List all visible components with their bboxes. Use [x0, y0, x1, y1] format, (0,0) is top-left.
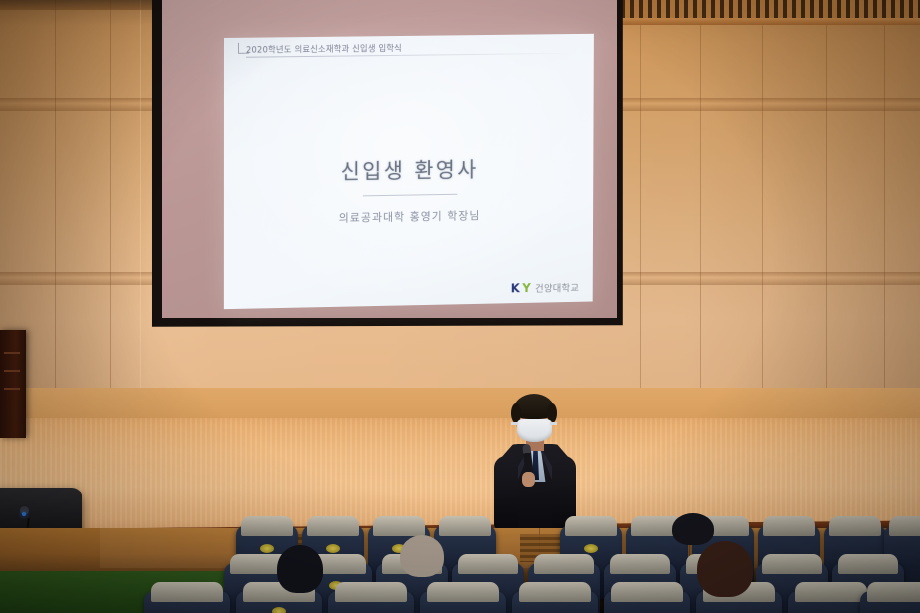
logo-university-name: 건양대학교 [535, 280, 579, 295]
seat-headrest [610, 554, 670, 574]
mask-strap [550, 422, 557, 425]
seat-headrest [762, 554, 822, 574]
mask-strap [511, 422, 518, 425]
attendee-cap-center [672, 513, 714, 545]
seat-headrest [838, 554, 898, 574]
seat-emblem-icon [260, 544, 274, 553]
auditorium-seat [604, 591, 690, 613]
seat-emblem-icon [272, 607, 286, 613]
seat-headrest [519, 582, 591, 602]
auditorium-seat [512, 591, 598, 613]
attendee-brown-hair-right [697, 541, 753, 597]
attendee-dark-hair-left [277, 545, 323, 593]
seat-headrest [611, 582, 683, 602]
presentation-slide: 2020학년도 의료신소재학과 신입생 입학식 신입생 환영사 의료공과대학 홍… [224, 34, 594, 309]
seat-headrest [427, 582, 499, 602]
presenter-hand [522, 472, 535, 487]
seat-headrest [795, 582, 867, 602]
rack-equipment [0, 330, 26, 438]
seat-headrest [241, 516, 293, 536]
acoustic-slats-trim [600, 18, 920, 25]
seat-emblem-icon [584, 544, 598, 553]
logo-letter-k-icon: K [511, 282, 520, 294]
seat-headrest [565, 516, 617, 536]
auditorium-seat [144, 591, 230, 613]
seat-headrest [458, 554, 518, 574]
seat-headrest [534, 554, 594, 574]
university-logo: K Y 건양대학교 [511, 280, 579, 295]
wall-seam [640, 0, 641, 430]
auditorium-seat [328, 591, 414, 613]
seat-headrest [867, 582, 920, 602]
seat-headrest [763, 516, 815, 536]
slide-title: 신입생 환영사 [224, 152, 593, 188]
seat-headrest [151, 582, 223, 602]
audience-seating [0, 505, 920, 613]
attendee-grey-hair [400, 535, 444, 577]
seat-headrest [335, 582, 407, 602]
auditorium-seat [860, 591, 920, 613]
auditorium-seat [236, 591, 322, 613]
seat-headrest [889, 516, 920, 536]
seat-headrest [373, 516, 425, 536]
seat-headrest [307, 516, 359, 536]
face-mask-icon [517, 419, 552, 442]
logo-letter-y-icon: Y [522, 282, 530, 294]
seat-headrest [439, 516, 491, 536]
seat-headrest [829, 516, 881, 536]
wall-shading-right [690, 0, 920, 430]
seat-emblem-icon [326, 544, 340, 553]
auditorium-seat [420, 591, 506, 613]
auditorium-photo: 2020학년도 의료신소재학과 신입생 입학식 신입생 환영사 의료공과대학 홍… [0, 0, 920, 613]
